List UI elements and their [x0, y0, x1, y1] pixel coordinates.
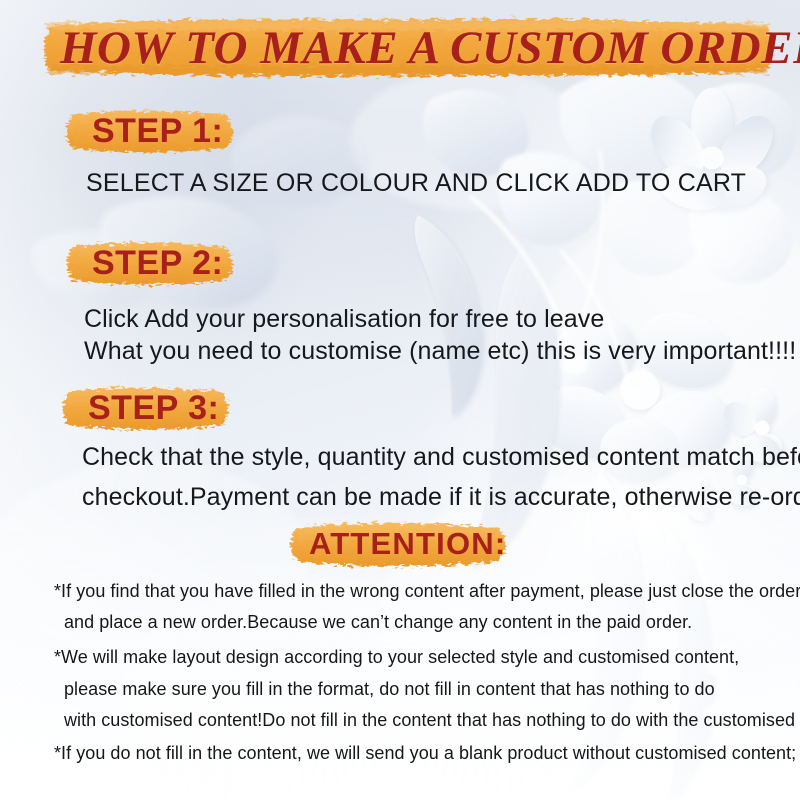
step-2-label: STEP 2: [92, 244, 223, 283]
step-3-line-2: checkout.Payment can be made if it is ac… [82, 483, 800, 512]
poster-canvas: HOW TO MAKE A CUSTOM ORDER STEP 1: SELEC… [0, 0, 800, 800]
step-2-line-1: Click Add your personalisation for free … [84, 305, 604, 334]
attention-note-3: *We will make layout design according to… [54, 647, 739, 668]
step-3-label: STEP 3: [88, 389, 219, 428]
step-3-line-1: Check that the style, quantity and custo… [82, 443, 800, 472]
attention-note-6: *If you do not fill in the content, we w… [54, 743, 796, 764]
step-1-line-1: SELECT A SIZE OR COLOUR AND CLICK ADD TO… [86, 169, 746, 198]
step-2-label-banner: STEP 2: [62, 238, 240, 288]
attention-note-4: please make sure you fill in the format,… [64, 679, 715, 700]
step-1-label-banner: STEP 1: [62, 106, 240, 156]
step-2-line-2: What you need to customise (name etc) th… [84, 337, 796, 366]
attention-note-2: and place a new order.Because we can’t c… [64, 612, 692, 633]
title-banner: HOW TO MAKE A CUSTOM ORDER [36, 14, 778, 82]
attention-label: ATTENTION: [309, 526, 506, 562]
step-3-label-banner: STEP 3: [58, 383, 236, 433]
attention-label-banner: ATTENTION: [285, 518, 513, 570]
step-1-label: STEP 1: [92, 112, 223, 151]
poster-title: HOW TO MAKE A CUSTOM ORDER [60, 21, 800, 75]
attention-note-1: *If you find that you have filled in the… [54, 581, 800, 602]
attention-note-5: with customised content!Do not fill in t… [64, 710, 800, 731]
